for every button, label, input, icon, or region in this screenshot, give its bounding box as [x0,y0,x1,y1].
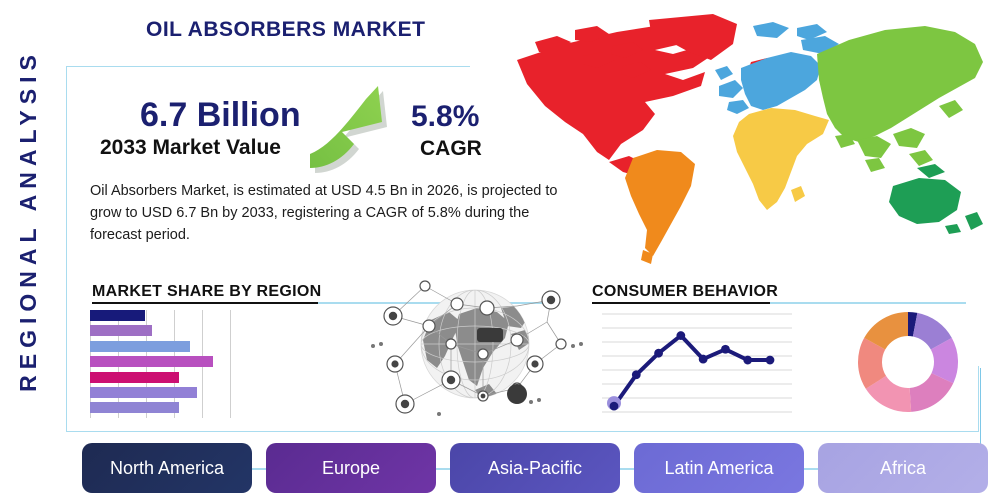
map-region-oceania [889,164,983,234]
map-region-south-america [625,150,695,264]
region-pill-asia-pacific[interactable]: Asia-Pacific [450,443,620,493]
page-title: OIL ABSORBERS MARKET [146,18,426,42]
market-value-figure: 6.7 Billion [140,96,301,135]
bar-chart-bar [90,402,179,413]
region-pill-latin-america[interactable]: Latin America [634,443,804,493]
line-chart-marker [721,345,730,354]
global-network-globe [365,268,585,423]
market-value-caption: 2033 Market Value [100,136,281,160]
market-share-heading: MARKET SHARE BY REGION [92,283,321,301]
region-pill-africa[interactable]: Africa [818,443,988,493]
line-chart-marker [766,356,775,365]
region-pill-connector [620,468,634,470]
region-pill-label: Latin America [664,458,773,479]
line-chart-marker [676,331,685,340]
cagr-figure: 5.8% [411,100,479,134]
side-label-text: REGIONAL ANALYSIS [15,49,42,392]
growth-arrow-icon [308,84,404,174]
bar-chart-bar [90,310,145,321]
world-map [505,10,995,272]
bar-chart-bar [90,325,152,336]
regional-share-donut-chart [854,308,962,416]
map-region-asia [817,26,983,172]
region-pill-connector [252,468,266,470]
region-pill-connector [804,468,818,470]
line-chart-marker [610,402,619,411]
consumer-behavior-heading: CONSUMER BEHAVIOR [592,283,778,301]
bar-chart-bar [90,341,190,352]
line-chart-marker [632,370,641,379]
region-pill-connector [436,468,450,470]
map-region-africa [733,108,829,210]
region-pill-label: Africa [880,458,926,479]
consumer-behavior-rule-extension [770,302,966,304]
line-chart-marker [654,349,663,358]
region-pill-europe[interactable]: Europe [266,443,436,493]
consumer-behavior-rule [592,302,770,304]
region-pill-label: Asia-Pacific [488,458,582,479]
market-share-by-region-bar-chart [90,310,290,418]
region-pill-north-america[interactable]: North America [82,443,252,493]
cagr-label: CAGR [420,137,482,161]
regional-analysis-side-label: REGIONAL ANALYSIS [0,0,56,440]
line-chart-marker [743,356,752,365]
region-pill-label: North America [110,458,224,479]
bar-chart-bar [90,372,179,383]
region-pill-label: Europe [322,458,380,479]
consumer-behavior-line-chart [600,308,796,418]
market-share-rule [92,302,318,304]
bar-chart-bar [90,387,197,398]
line-chart-marker [699,355,708,364]
bar-chart-bar [90,356,213,367]
